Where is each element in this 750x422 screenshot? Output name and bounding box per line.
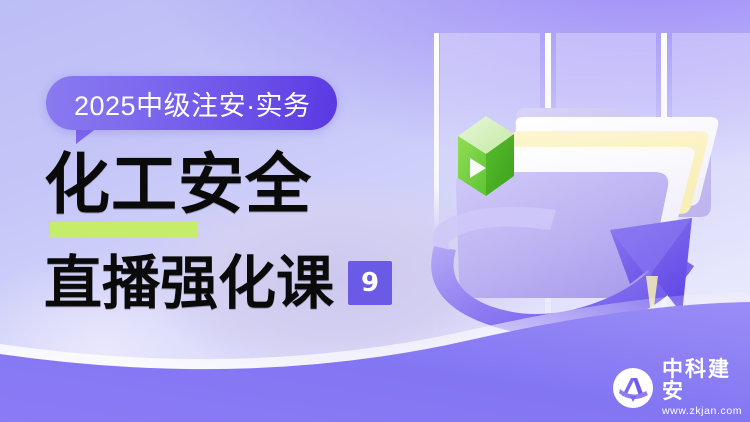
badge-pill: 2025中级注安·实务 — [46, 76, 337, 130]
badge-label: 2025中级注安·实务 — [74, 84, 311, 123]
brand-name: 中科建安 — [662, 358, 750, 402]
headline-row-1: 化工安全 — [44, 152, 464, 244]
headline-line-2: 直播强化课 — [44, 254, 334, 312]
zkjan-circle-logo-icon — [612, 367, 654, 409]
promo-banner: 2025中级注安·实务 化工安全 直播强化课 9 中科建安 — [0, 0, 750, 422]
headline-line-1: 化工安全 — [44, 152, 464, 218]
headline-block: 化工安全 直播强化课 9 — [44, 152, 464, 322]
headline-row-2: 直播强化课 9 — [44, 244, 464, 322]
course-category-badge: 2025中级注安·实务 — [46, 76, 337, 130]
episode-number: 9 — [361, 270, 379, 296]
green-highlight-bar — [50, 222, 198, 237]
logo-text-block: 中科建安 www.zkjan.com — [662, 358, 750, 419]
brand-url: www.zkjan.com — [662, 404, 750, 419]
brand-logo: 中科建安 www.zkjan.com — [612, 358, 750, 419]
episode-number-badge: 9 — [348, 261, 392, 305]
